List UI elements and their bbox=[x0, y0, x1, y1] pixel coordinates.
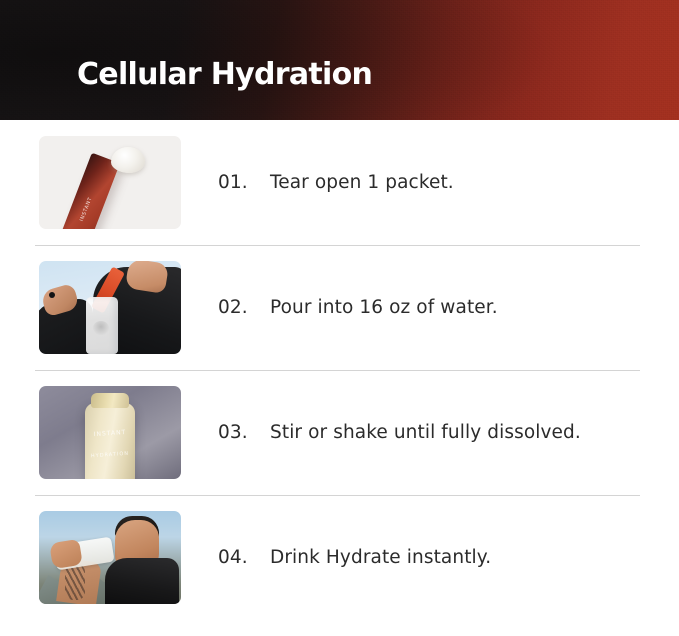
step-label: Tear open 1 packet. bbox=[270, 172, 454, 193]
page-title-line-1: Cellular Hydration bbox=[77, 57, 372, 92]
step-row: INSTANT HYDRATION 03. Stir or shake unti… bbox=[0, 370, 679, 495]
step-row: 04. Drink Hydrate instantly. bbox=[0, 495, 679, 620]
step-label: Stir or shake until fully dissolved. bbox=[270, 422, 581, 443]
finger-ring-shape bbox=[49, 292, 55, 298]
step-text: 02. Pour into 16 oz of water. bbox=[218, 297, 498, 318]
powder-pile-icon bbox=[111, 147, 145, 173]
header-banner: Cellular Hydration In Seconds bbox=[0, 0, 679, 120]
step-label: Drink Hydrate instantly. bbox=[270, 547, 491, 568]
step-number: 04. bbox=[218, 547, 270, 568]
step-number: 01. bbox=[218, 172, 270, 193]
step-thumbnail-bottle: INSTANT HYDRATION bbox=[39, 386, 181, 479]
step-text: 04. Drink Hydrate instantly. bbox=[218, 547, 491, 568]
step-number: 02. bbox=[218, 297, 270, 318]
step-thumbnail-packet: INSTANT bbox=[39, 136, 181, 229]
step-label: Pour into 16 oz of water. bbox=[270, 297, 498, 318]
page-title: Cellular Hydration In Seconds bbox=[38, 19, 372, 120]
bottle-cap-shape bbox=[91, 393, 129, 408]
water-bottle-icon bbox=[86, 297, 118, 354]
step-text: 01. Tear open 1 packet. bbox=[218, 172, 454, 193]
steps-list: INSTANT 01. Tear open 1 packet. 02. Pour… bbox=[0, 120, 679, 620]
packet-brand-label: INSTANT bbox=[76, 190, 96, 229]
packet-stick-icon: INSTANT bbox=[53, 153, 120, 229]
step-row: INSTANT 01. Tear open 1 packet. bbox=[0, 120, 679, 245]
step-thumbnail-drinking bbox=[39, 511, 181, 604]
person-torso-shape bbox=[105, 558, 179, 604]
step-number: 03. bbox=[218, 422, 270, 443]
step-text: 03. Stir or shake until fully dissolved. bbox=[218, 422, 581, 443]
arm-tattoo-pattern bbox=[65, 564, 85, 600]
bottle-body-shape bbox=[85, 403, 135, 479]
step-thumbnail-pour bbox=[39, 261, 181, 354]
step-row: 02. Pour into 16 oz of water. bbox=[0, 245, 679, 370]
